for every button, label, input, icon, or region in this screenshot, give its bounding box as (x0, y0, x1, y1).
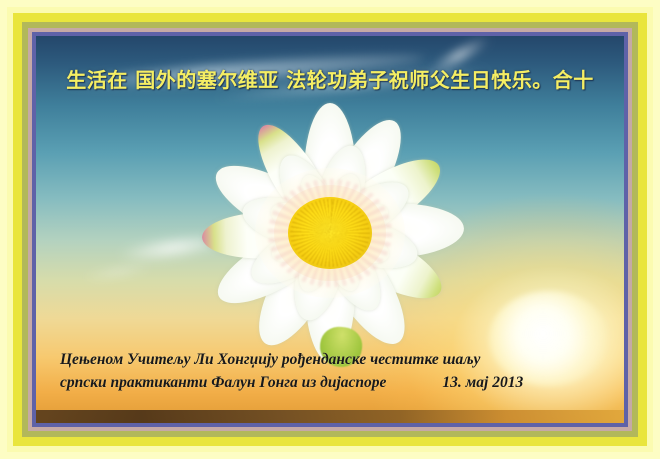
border-band-cream: 生活在 国外的塞尔维亚 法轮功弟子祝师父生日快乐。合十 Цењеном Учит… (7, 7, 653, 452)
greeting-card: 生活在 国外的塞尔维亚 法轮功弟子祝师父生日快乐。合十 Цењеном Учит… (0, 0, 660, 459)
message-line-1: Цењеном Учитељу Ли Хонгџију рођенданске … (60, 348, 610, 372)
lotus-stamen-core (288, 197, 372, 269)
message-block: Цењеном Учитељу Ли Хонгџију рођенданске … (60, 348, 610, 395)
border-band-mauve: 生活在 国外的塞尔维亚 法轮功弟子祝师父生日快乐。合十 Цењеном Учит… (28, 28, 632, 431)
lotus-flower (165, 103, 495, 363)
border-band-blue: 生活在 国外的塞尔维亚 法轮功弟子祝师父生日快乐。合十 Цењеном Учит… (32, 32, 628, 427)
border-band-yellow: 生活在 国外的塞尔维亚 法轮功弟子祝师父生日快乐。合十 Цењеном Учит… (13, 13, 647, 446)
message-date: 13. мај 2013 (442, 371, 523, 395)
message-line-2-row: српски практиканти Фалун Гонга из дијасп… (60, 371, 610, 395)
headline-chinese: 生活在 国外的塞尔维亚 法轮功弟子祝师父生日快乐。合十 (36, 64, 624, 93)
horizon-strip (36, 410, 624, 423)
photo-canvas: 生活在 国外的塞尔维亚 法轮功弟子祝师父生日快乐。合十 Цењеном Учит… (36, 36, 624, 423)
border-band-olive: 生活在 国外的塞尔维亚 法轮功弟子祝师父生日快乐。合十 Цењеном Учит… (22, 22, 638, 437)
message-line-2: српски практиканти Фалун Гонга из дијасп… (60, 371, 386, 395)
